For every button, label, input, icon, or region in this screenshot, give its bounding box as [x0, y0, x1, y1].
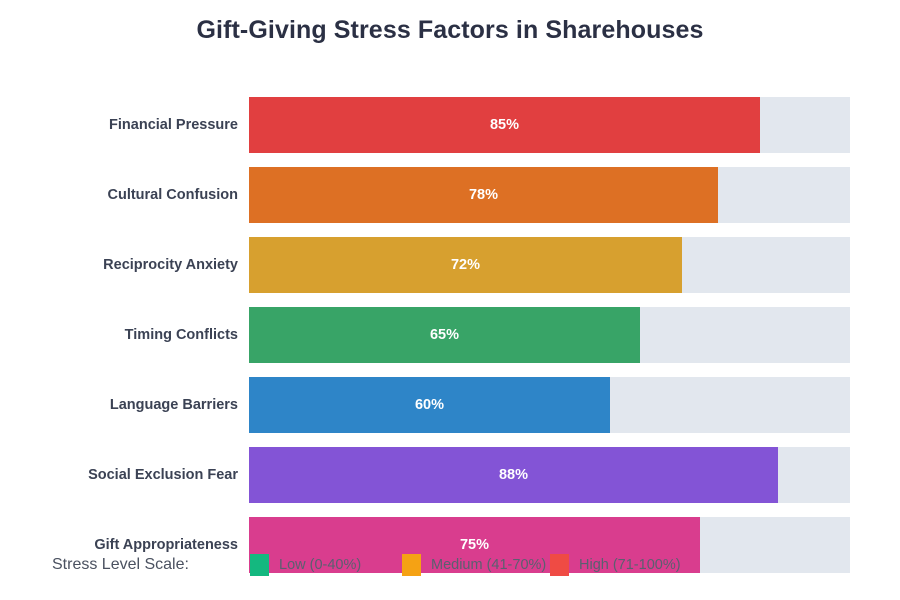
bar-value-label: 72% — [249, 237, 682, 293]
category-label: Financial Pressure — [0, 97, 238, 153]
bar-track: 65% — [249, 307, 850, 363]
chart-legend: Stress Level Scale: Low (0-40%)Medium (4… — [0, 552, 900, 578]
bar-value-label: 65% — [249, 307, 640, 363]
bar-row: Language Barriers60% — [0, 377, 900, 433]
legend-item[interactable]: Medium (41-70%) — [402, 552, 546, 578]
bar-value-label: 85% — [249, 97, 760, 153]
bar-track: 88% — [249, 447, 850, 503]
bar-row: Social Exclusion Fear88% — [0, 447, 900, 503]
category-label: Language Barriers — [0, 377, 238, 433]
plot-area: Financial Pressure85%Cultural Confusion7… — [0, 0, 900, 600]
bar-row: Cultural Confusion78% — [0, 167, 900, 223]
legend-item[interactable]: Low (0-40%) — [250, 552, 361, 578]
category-label: Cultural Confusion — [0, 167, 238, 223]
bar-value-label: 88% — [249, 447, 778, 503]
bar-track: 85% — [249, 97, 850, 153]
bar-value-label: 60% — [249, 377, 610, 433]
bar-track: 72% — [249, 237, 850, 293]
bar-track: 78% — [249, 167, 850, 223]
bar-row: Timing Conflicts65% — [0, 307, 900, 363]
legend-label: Medium (41-70%) — [431, 557, 546, 573]
bar-row: Reciprocity Anxiety72% — [0, 237, 900, 293]
category-label: Timing Conflicts — [0, 307, 238, 363]
legend-title: Stress Level Scale: — [52, 552, 189, 578]
legend-label: High (71-100%) — [579, 557, 681, 573]
bar-chart: Gift-Giving Stress Factors in Sharehouse… — [0, 0, 900, 600]
legend-swatch-icon — [250, 554, 269, 576]
category-label: Social Exclusion Fear — [0, 447, 238, 503]
legend-label: Low (0-40%) — [279, 557, 361, 573]
legend-swatch-icon — [402, 554, 421, 576]
bar-row: Financial Pressure85% — [0, 97, 900, 153]
bar-value-label: 78% — [249, 167, 718, 223]
category-label: Reciprocity Anxiety — [0, 237, 238, 293]
bar-track: 60% — [249, 377, 850, 433]
legend-item[interactable]: High (71-100%) — [550, 552, 681, 578]
legend-swatch-icon — [550, 554, 569, 576]
